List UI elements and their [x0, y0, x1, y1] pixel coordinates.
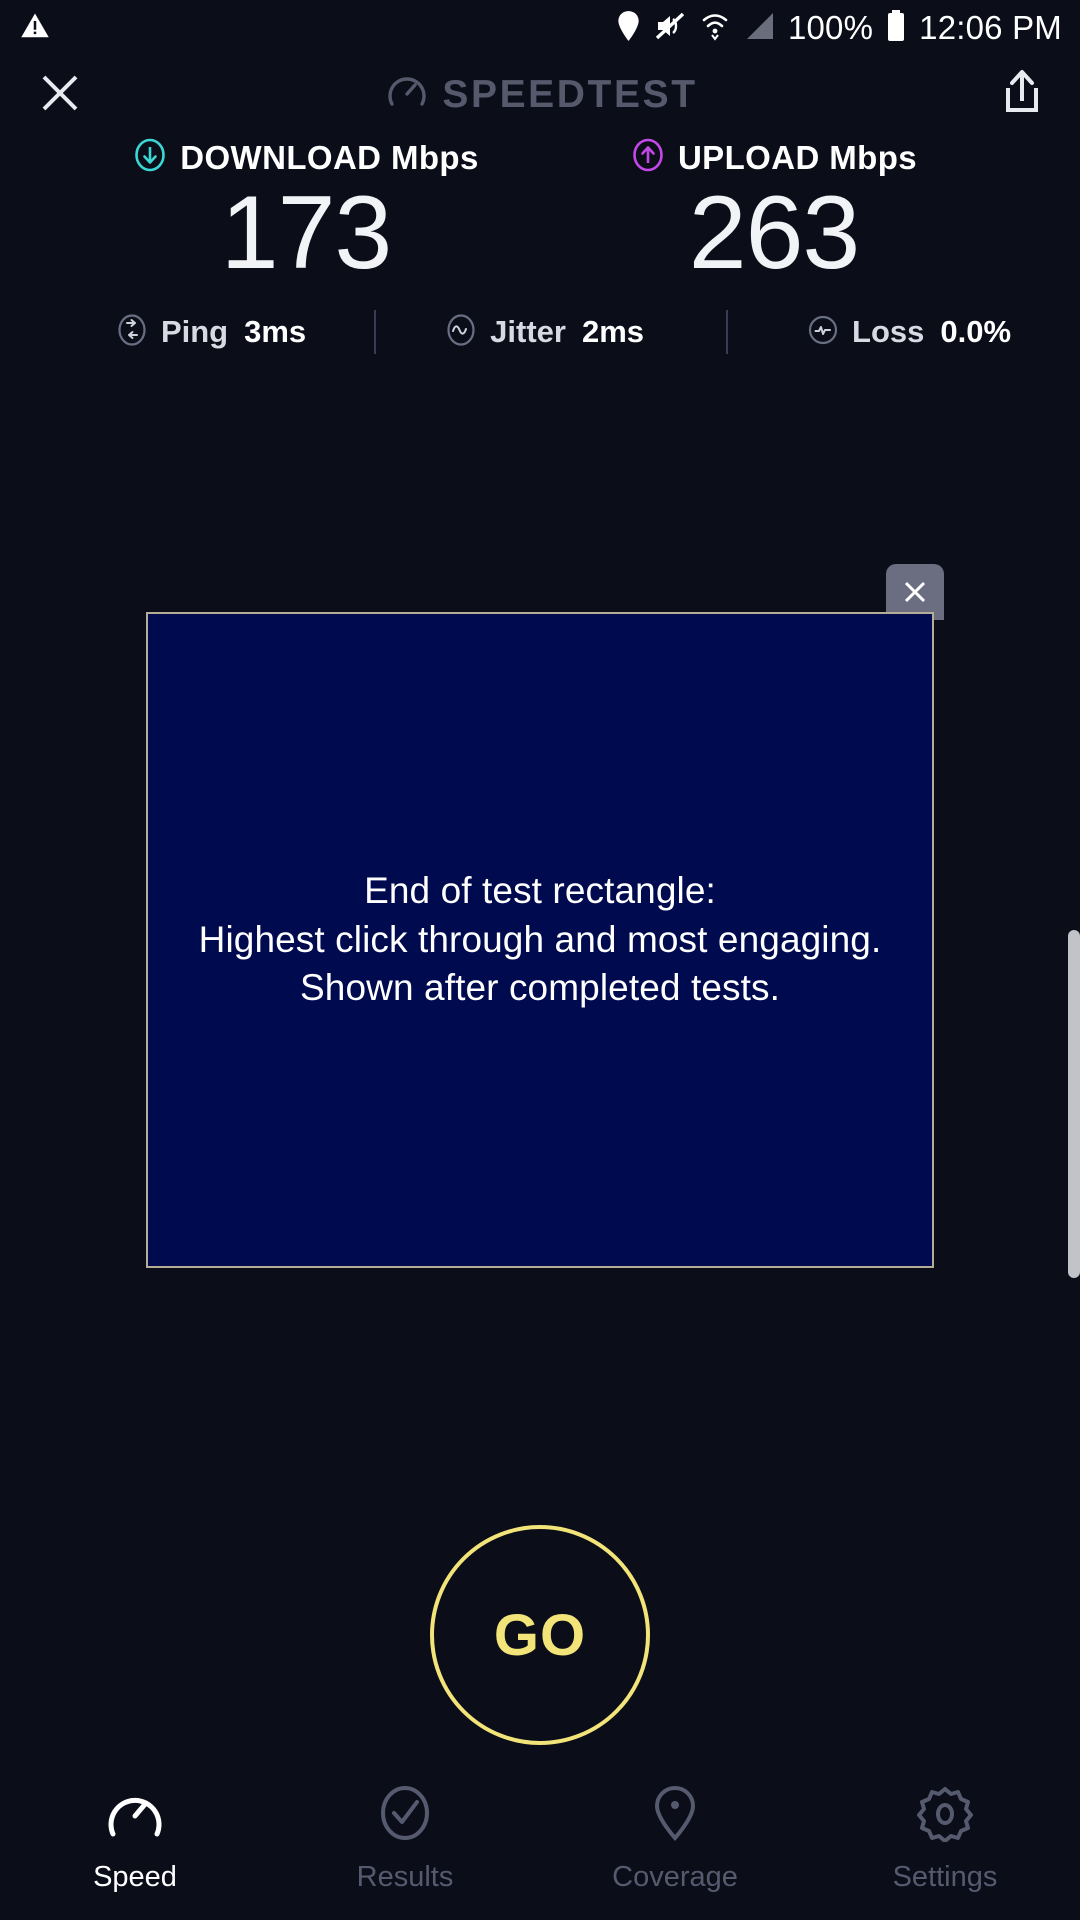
advertisement-banner[interactable]: End of test rectangle: Highest click thr… [146, 612, 934, 1268]
battery-full-icon [886, 10, 906, 47]
upload-arrow-icon [631, 138, 665, 177]
location-pin-icon [615, 10, 642, 47]
status-bar: 100% 12:06 PM [0, 0, 1080, 56]
metric-ping-label: Ping [161, 314, 228, 350]
speedometer-icon [386, 72, 428, 119]
metric-jitter: Jitter 2ms [444, 313, 644, 352]
app-brand: SPEEDTEST [386, 72, 697, 119]
metric-ping: Ping 3ms [115, 313, 306, 352]
ad-line-2: Highest click through and most engaging. [199, 916, 882, 965]
ad-line-3: Shown after completed tests. [199, 964, 882, 1013]
metric-loss-label: Loss [852, 314, 924, 350]
clock-label: 12:06 PM [919, 9, 1062, 47]
volume-muted-icon [655, 11, 687, 46]
cell-signal-icon [743, 11, 775, 46]
share-icon [998, 67, 1046, 119]
battery-percent-label: 100% [788, 9, 873, 47]
jitter-icon [444, 313, 478, 352]
ad-text: End of test rectangle: Highest click thr… [199, 867, 882, 1013]
download-label: DOWNLOAD Mbps [180, 139, 479, 177]
metric-jitter-label: Jitter [490, 314, 566, 350]
metric-jitter-value: 2ms [582, 314, 644, 350]
download-value: 173 [221, 181, 392, 285]
ping-icon [115, 313, 149, 352]
close-button[interactable] [34, 67, 86, 124]
metric-divider [726, 310, 728, 354]
page-scrollbar[interactable] [1068, 930, 1080, 1278]
gear-icon [915, 1784, 975, 1847]
warning-triangle-icon [20, 11, 50, 46]
speedtest-app-screen: 100% 12:06 PM SPEE [0, 0, 1080, 1920]
share-button[interactable] [998, 67, 1046, 124]
page-title: SPEEDTEST [442, 73, 697, 117]
ad-close-icon [898, 575, 932, 609]
close-icon [34, 67, 86, 119]
loss-icon [806, 313, 840, 352]
speed-results: DOWNLOAD Mbps 173 UPLOAD Mbps 263 [0, 138, 1080, 285]
nav-label-coverage: Coverage [612, 1861, 738, 1894]
speedometer-icon [105, 1784, 165, 1847]
wifi-icon [700, 10, 730, 47]
app-header: SPEEDTEST [0, 56, 1080, 134]
check-circle-icon [375, 1784, 435, 1847]
metric-loss: Loss 0.0% [806, 313, 1011, 352]
nav-label-speed: Speed [93, 1861, 177, 1894]
nav-item-results[interactable]: Results [270, 1784, 540, 1894]
nav-item-coverage[interactable]: Coverage [540, 1784, 810, 1894]
map-pin-icon [645, 1784, 705, 1847]
status-bar-left [20, 11, 50, 46]
ad-line-1: End of test rectangle: [199, 867, 882, 916]
download-arrow-icon [133, 138, 167, 177]
metric-loss-value: 0.0% [940, 314, 1011, 350]
upload-result: UPLOAD Mbps 263 [579, 138, 969, 285]
go-button-label: GO [494, 1602, 586, 1669]
download-result: DOWNLOAD Mbps 173 [111, 138, 501, 285]
nav-label-settings: Settings [893, 1861, 998, 1894]
metric-ping-value: 3ms [244, 314, 306, 350]
upload-label: UPLOAD Mbps [678, 139, 917, 177]
upload-value: 263 [689, 181, 860, 285]
nav-item-speed[interactable]: Speed [0, 1784, 270, 1894]
nav-label-results: Results [357, 1861, 454, 1894]
metric-divider [374, 310, 376, 354]
connection-metrics: Ping 3ms Jitter 2ms [0, 310, 1080, 354]
bottom-navigation: Speed Results Coverage [0, 1770, 1080, 1920]
nav-item-settings[interactable]: Settings [810, 1784, 1080, 1894]
status-bar-right: 100% 12:06 PM [615, 9, 1062, 47]
go-button[interactable]: GO [430, 1525, 650, 1745]
